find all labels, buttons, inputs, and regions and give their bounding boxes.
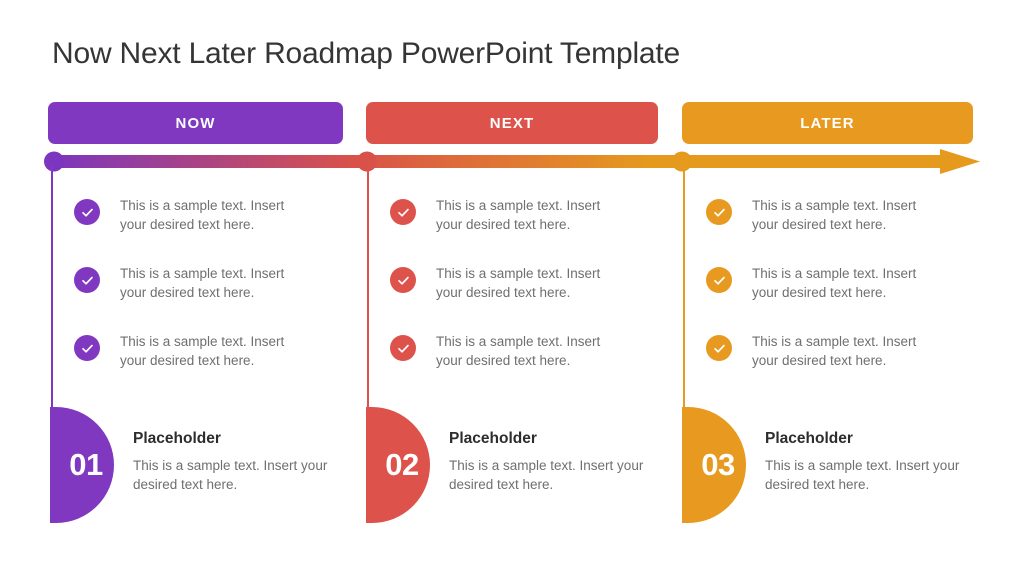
list-item-text: This is a sample text. Insert your desir… [752,332,942,370]
connector-line [683,163,685,421]
phase-column-now: This is a sample text. Insert your desir… [48,155,368,530]
phase-bar-label: NOW [176,115,216,132]
step-number: 02 [385,447,418,483]
list-item-text: This is a sample text. Insert your desir… [752,264,942,302]
placeholder-body: Placeholder This is a sample text. Inser… [133,430,338,494]
step-number: 01 [69,447,102,483]
step-number-badge: 03 [682,407,746,523]
placeholder-heading: Placeholder [133,430,338,448]
placeholder-description: This is a sample text. Insert your desir… [449,456,654,494]
phase-bar-next[interactable]: NEXT [366,102,658,144]
list-item-text: This is a sample text. Insert your desir… [436,196,626,234]
check-circle-icon [390,267,416,293]
list-item[interactable]: This is a sample text. Insert your desir… [74,196,364,264]
list-item-text: This is a sample text. Insert your desir… [436,332,626,370]
list-item[interactable]: This is a sample text. Insert your desir… [74,264,364,332]
check-circle-icon [390,335,416,361]
list-item[interactable]: This is a sample text. Insert your desir… [74,332,364,400]
phase-column-later: This is a sample text. Insert your desir… [680,155,1000,530]
list-item[interactable]: This is a sample text. Insert your desir… [706,196,996,264]
step-number-badge: 01 [50,407,114,523]
check-circle-icon [74,199,100,225]
page-title: Now Next Later Roadmap PowerPoint Templa… [52,37,680,71]
list-item-text: This is a sample text. Insert your desir… [436,264,626,302]
bullet-list: This is a sample text. Insert your desir… [74,196,364,400]
placeholder-block: 03 Placeholder This is a sample text. In… [680,407,1000,527]
roadmap-slide: Now Next Later Roadmap PowerPoint Templa… [0,0,1024,576]
check-circle-icon [74,267,100,293]
list-item-text: This is a sample text. Insert your desir… [120,264,310,302]
phase-bar-label: LATER [800,115,854,132]
connector-line [367,163,369,421]
list-item[interactable]: This is a sample text. Insert your desir… [706,332,996,400]
check-circle-icon [706,335,732,361]
placeholder-body: Placeholder This is a sample text. Inser… [449,430,654,494]
placeholder-description: This is a sample text. Insert your desir… [765,456,970,494]
list-item[interactable]: This is a sample text. Insert your desir… [390,196,680,264]
list-item[interactable]: This is a sample text. Insert your desir… [390,264,680,332]
check-circle-icon [706,267,732,293]
list-item[interactable]: This is a sample text. Insert your desir… [706,264,996,332]
check-circle-icon [390,199,416,225]
placeholder-block: 01 Placeholder This is a sample text. In… [48,407,368,527]
connector-line [51,163,53,421]
list-item-text: This is a sample text. Insert your desir… [120,196,310,234]
step-number-badge: 02 [366,407,430,523]
placeholder-heading: Placeholder [449,430,654,448]
list-item-text: This is a sample text. Insert your desir… [120,332,310,370]
bullet-list: This is a sample text. Insert your desir… [390,196,680,400]
placeholder-block: 02 Placeholder This is a sample text. In… [364,407,684,527]
phase-column-next: This is a sample text. Insert your desir… [364,155,684,530]
bullet-list: This is a sample text. Insert your desir… [706,196,996,400]
phase-bar-now[interactable]: NOW [48,102,343,144]
phase-bar-later[interactable]: LATER [682,102,973,144]
list-item[interactable]: This is a sample text. Insert your desir… [390,332,680,400]
list-item-text: This is a sample text. Insert your desir… [752,196,942,234]
phase-bar-label: NEXT [490,115,534,132]
placeholder-body: Placeholder This is a sample text. Inser… [765,430,970,494]
placeholder-description: This is a sample text. Insert your desir… [133,456,338,494]
step-number: 03 [701,447,734,483]
check-circle-icon [74,335,100,361]
placeholder-heading: Placeholder [765,430,970,448]
check-circle-icon [706,199,732,225]
